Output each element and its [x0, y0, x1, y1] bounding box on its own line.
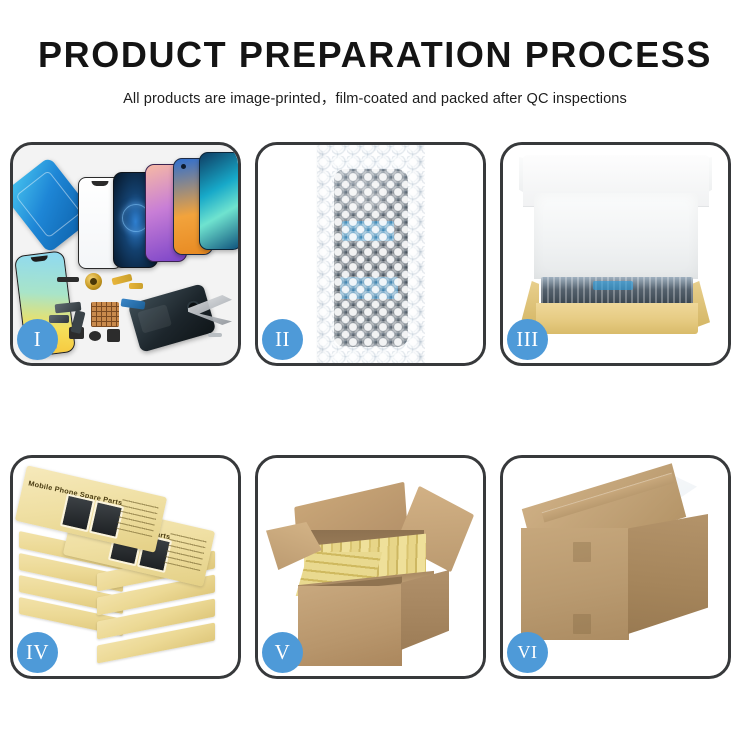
step-5-badge: V: [262, 632, 303, 673]
page-subtitle: All products are image-printed，film-coat…: [0, 76, 750, 108]
process-step-5: V: [255, 455, 486, 679]
carton-tab-lower: [573, 614, 591, 634]
page-header: PRODUCT PREPARATION PROCESS All products…: [0, 0, 750, 108]
spare-part-button: [89, 331, 101, 341]
packed-wrapped-units: [541, 277, 693, 305]
process-step-2: II: [255, 142, 486, 366]
box-spec-text-second: [164, 530, 207, 571]
sealed-carton-side: [628, 514, 708, 634]
process-step-grid: I II III: [10, 142, 740, 682]
inner-box-front-panel: [536, 303, 698, 334]
phone-back-housing-part: [128, 283, 217, 353]
step-6-badge: VI: [507, 632, 548, 673]
process-step-6: VI: [500, 455, 731, 679]
spare-part-flex-2: [129, 283, 143, 289]
step-4-badge: IV: [17, 632, 58, 673]
spare-part-strip: [57, 277, 79, 282]
spare-part-chip-2: [107, 329, 120, 342]
step-3-badge: III: [507, 319, 548, 360]
bubble-pattern-overlay: [317, 145, 425, 363]
speaker-coil-part: [85, 273, 102, 290]
carton-tab-upper: [573, 542, 591, 562]
step-2-badge: II: [262, 319, 303, 360]
page-title: PRODUCT PREPARATION PROCESS: [0, 0, 750, 76]
process-step-3: III: [500, 142, 731, 366]
lcd-screen-teal: [199, 152, 238, 250]
carton-side-panel: [401, 570, 449, 650]
process-step-1: I: [10, 142, 241, 366]
foam-liner: [534, 193, 698, 279]
spare-part-board-2: [49, 315, 69, 323]
spare-part-screws: [208, 333, 222, 337]
box-spec-text-top: [116, 496, 159, 537]
step-1-badge: I: [17, 319, 58, 360]
mesh-chip-part: [91, 302, 119, 327]
carton-front-panel: [298, 586, 402, 666]
process-step-4: Mobile Phone Spare Parts Mobile Phone Sp…: [10, 455, 241, 679]
